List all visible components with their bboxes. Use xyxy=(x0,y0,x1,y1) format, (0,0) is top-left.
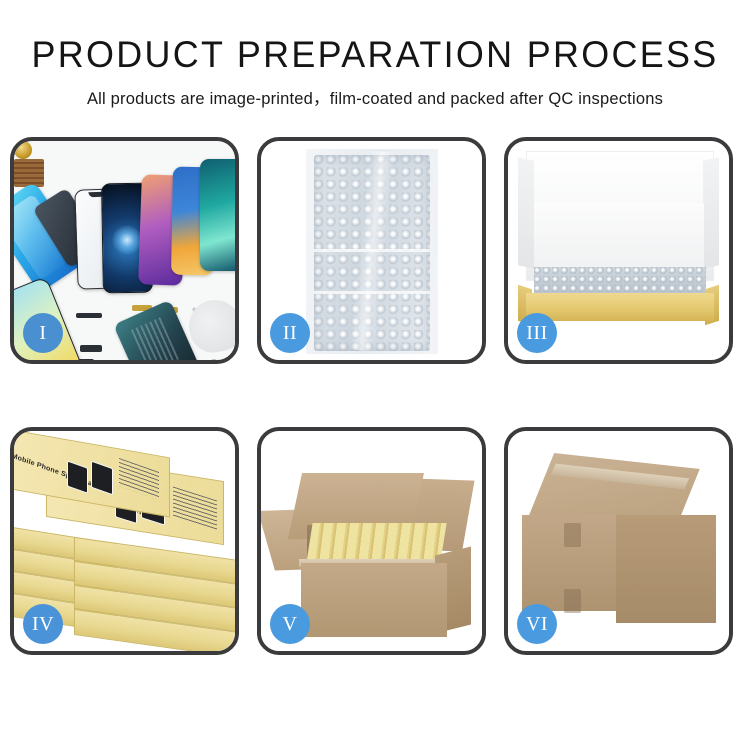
process-step-card-1: I xyxy=(10,137,239,364)
coil-component xyxy=(14,141,32,159)
process-step-grid: I II III xyxy=(10,137,740,655)
page-header: PRODUCT PREPARATION PROCESS All products… xyxy=(0,0,750,109)
step-numeral-2: II xyxy=(283,323,297,343)
process-step-card-6: VI xyxy=(504,427,733,655)
phone-screen-teal xyxy=(200,159,235,271)
page-subtitle: All products are image-printed，film-coat… xyxy=(0,85,750,109)
step-numeral-1: I xyxy=(39,323,46,343)
phone-back-housing xyxy=(113,300,201,360)
process-step-card-3: III xyxy=(504,137,733,364)
step-numeral-6: VI xyxy=(526,614,548,634)
sealed-carton-handle-tab-top xyxy=(564,523,581,547)
box-lid-right-flap xyxy=(703,157,719,268)
box-yellow-front xyxy=(526,293,714,321)
flex-cable-1 xyxy=(76,313,102,318)
sealed-carton-right-face xyxy=(616,515,716,623)
step-badge-1: I xyxy=(23,313,63,353)
step-numeral-4: IV xyxy=(32,614,54,634)
process-step-card-4: Mobile Phone Spare Parts Mobile Phone Sp… xyxy=(10,427,239,655)
sealed-carton-handle-tab-bottom xyxy=(564,589,581,613)
process-step-card-2: II xyxy=(257,137,486,364)
step-badge-2: II xyxy=(270,313,310,353)
hand-holding-tool xyxy=(184,295,235,357)
step-badge-4: IV xyxy=(23,604,63,644)
step-numeral-3: III xyxy=(526,323,547,343)
step-badge-6: VI xyxy=(517,604,557,644)
step-numeral-5: V xyxy=(283,614,298,634)
box-lid-left-flap xyxy=(518,157,534,268)
connector-part-2 xyxy=(78,359,94,360)
carton-front-face xyxy=(301,563,447,637)
connector-part-1 xyxy=(80,345,102,352)
page-title: PRODUCT PREPARATION PROCESS xyxy=(11,36,739,75)
box-bubble-wrapped-contents xyxy=(534,267,706,295)
box-foam-insert xyxy=(534,203,704,271)
chip-grid-component xyxy=(14,159,44,187)
screw-1 xyxy=(210,359,218,360)
process-step-card-5: V xyxy=(257,427,486,655)
step-badge-3: III xyxy=(517,313,557,353)
step-badge-5: V xyxy=(270,604,310,644)
